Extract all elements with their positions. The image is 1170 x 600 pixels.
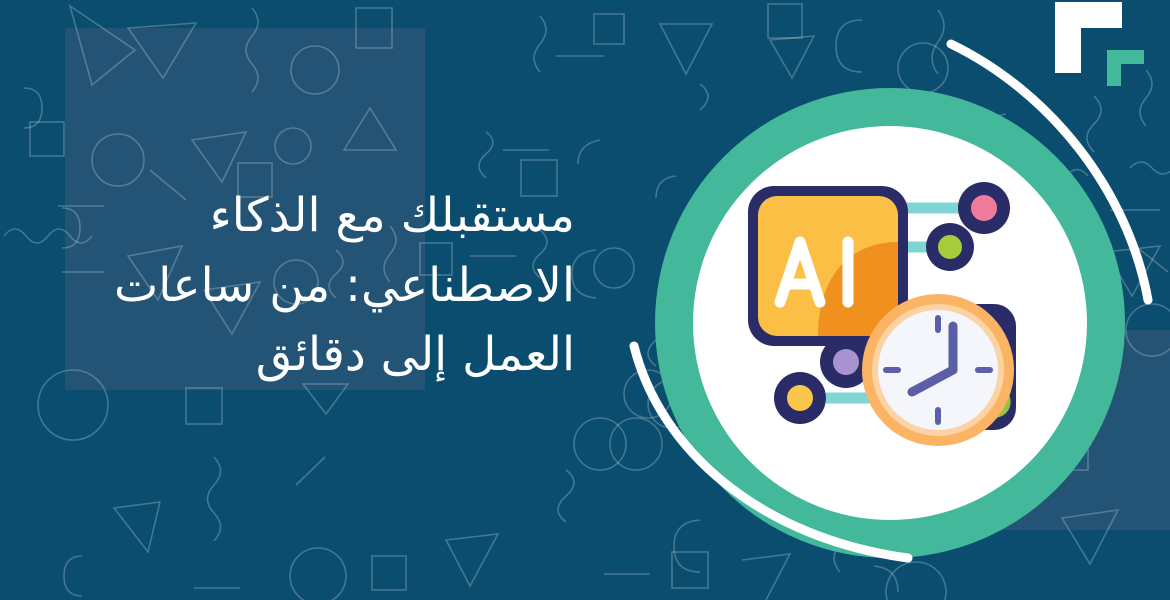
brand-logo[interactable] [1050,0,1150,92]
node-pink [958,182,1010,234]
node-green [926,223,974,271]
logo-mark-teal [1107,50,1144,86]
banner-root: مستقبلك مع الذكاء الاصطناعي: من ساعات ال… [0,0,1170,600]
alarm-clock [862,294,1014,446]
ai-automation-illustration [700,130,1090,520]
node-yellow [774,372,826,424]
page-title: مستقبلك مع الذكاء الاصطناعي: من ساعات ال… [55,181,575,388]
